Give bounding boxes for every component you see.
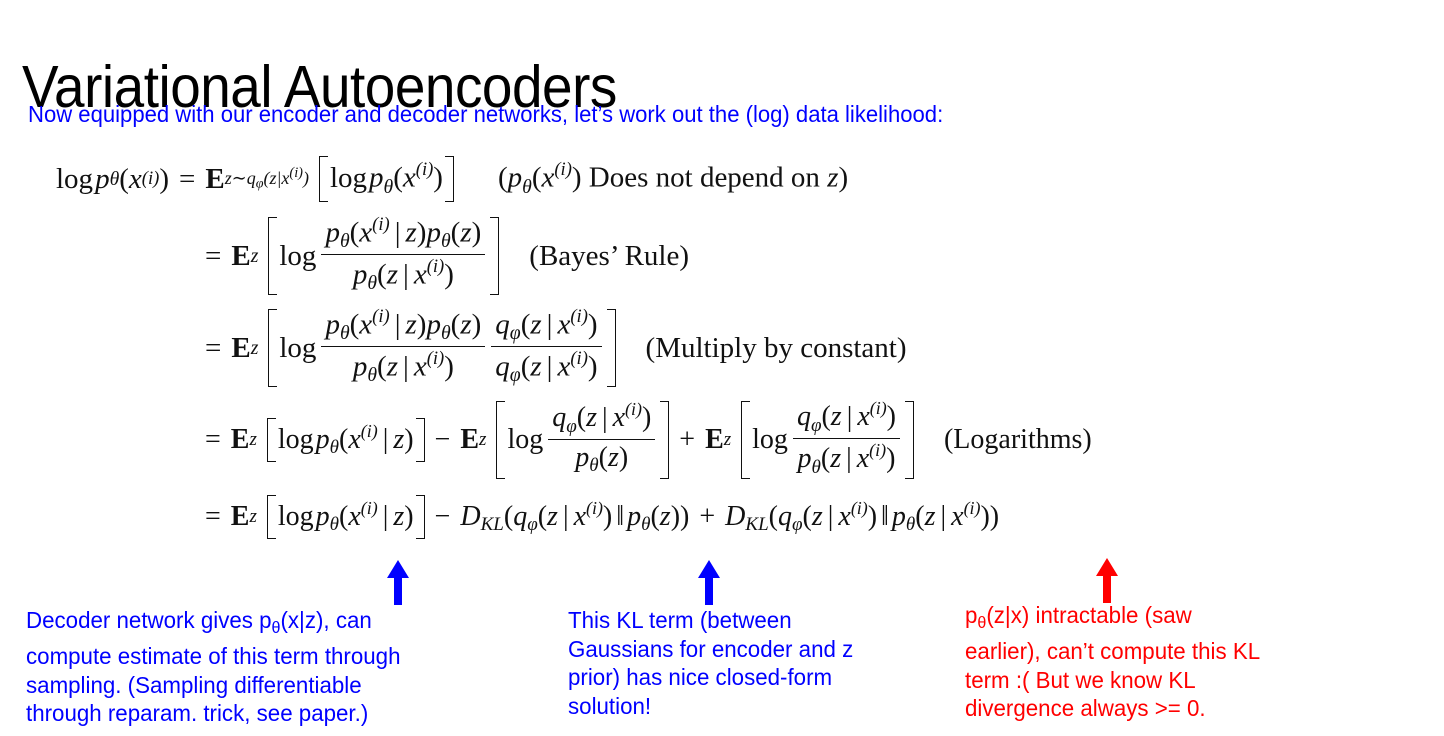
plus-l5: + — [699, 501, 715, 533]
arrow-kl-term — [695, 558, 723, 606]
note-decoder-line-1: Decoder network gives pθ(x|z), can — [26, 606, 550, 642]
equation-line-5: = Ez logpθ(x(i)|z) − DKL(qφ(z|x(i))‖pθ(z… — [205, 486, 1444, 548]
note-decoder-line-2: compute estimate of this term through — [26, 642, 550, 671]
note-decoder-line-3: sampling. (Sampling differentiable — [26, 671, 550, 700]
bracket-open-l5 — [267, 495, 276, 539]
fraction-kl-prior-l4: qφ(z|x(i)) pθ(z) — [548, 399, 655, 477]
note-kl-line-4: solution! — [568, 692, 937, 721]
bracket-body-l1: logpθ(x(i)) — [330, 159, 443, 198]
equals-l5: = — [205, 501, 221, 533]
bracket-close-l1 — [445, 156, 454, 202]
note-intractable-line1-suffix: (z|x) intractable (saw — [986, 602, 1191, 628]
fraction-numerator-l4-c: qφ(z|x(i)) — [793, 398, 900, 439]
expectation-symbol-l5: E — [231, 501, 250, 533]
x-symbol-l1: x — [129, 163, 142, 196]
equals-l3: = — [205, 332, 221, 365]
expectation-symbol-l4-b: E — [460, 424, 479, 456]
slide-subtitle: Now equipped with our encoder and decode… — [28, 101, 943, 128]
fraction2-denominator-l3: qφ(z|x(i)) — [491, 347, 601, 387]
recon-term-l5: logpθ(x(i)|z) — [278, 498, 414, 536]
fraction-bayes-l2: pθ(x(i)|z)pθ(z) pθ(z|x(i)) — [321, 214, 485, 295]
annotation-l3: (Multiply by constant) — [646, 332, 907, 365]
bracket-open-l4-a — [267, 418, 276, 462]
expectation-subscript-l3: z — [251, 337, 259, 360]
expectation-subscript-l1: z∼qφ(z|x(i)) — [225, 165, 309, 193]
fraction-numerator-l2: pθ(x(i)|z)pθ(z) — [321, 214, 485, 255]
log-operator-l2: log — [279, 240, 318, 273]
bracket-close-l2 — [490, 217, 499, 295]
equation-line-4: = Ez logpθ(x(i)|z) − Ez log qφ(z|x(i)) p… — [205, 394, 1444, 486]
note-intractable-line1-prefix: p — [965, 602, 977, 628]
plus-l4: + — [679, 424, 695, 456]
fraction1-numerator-l3: pθ(x(i)|z)pθ(z) — [321, 306, 485, 347]
expectation-symbol-l4-a: E — [231, 424, 250, 456]
theta-subscript-note-intractable: θ — [977, 609, 986, 638]
note-intractable-line-1: pθ(z|x) intractable (saw — [965, 601, 1382, 637]
fraction-denominator-l4-c: pθ(z|x(i)) — [794, 439, 900, 479]
paren-close-l1: ) — [159, 163, 169, 196]
log-operator-l3: log — [279, 332, 318, 365]
superscript-i-l1: (i) — [142, 168, 160, 190]
equation-line-1: logpθ(x(i)) = Ez∼qφ(z|x(i)) logpθ(x(i)) … — [56, 148, 1444, 210]
note-decoder-line-4: through reparam. trick, see paper.) — [26, 699, 550, 728]
bracket-close-l4-c — [905, 401, 914, 479]
log-operator-l4-b: log — [507, 424, 545, 456]
fraction1-denominator-l3: pθ(z|x(i)) — [349, 347, 458, 387]
note-intractable-line-3: term :( But we know KL — [965, 666, 1382, 695]
arrow-decoder-term — [384, 558, 412, 606]
note-decoder: Decoder network gives pθ(x|z), can compu… — [26, 606, 550, 728]
bracket-open-l1 — [319, 156, 328, 202]
note-intractable-line-2: earlier), can’t compute this KL — [965, 637, 1382, 666]
bracket-open-l2 — [268, 217, 277, 295]
note-decoder-line1-prefix: Decoder network gives p — [26, 607, 272, 633]
bracket-open-l4-c — [741, 401, 750, 479]
equation-line-3: = Ez log pθ(x(i)|z)pθ(z) pθ(z|x(i)) qφ(z… — [205, 302, 1444, 394]
theta-subscript-l1: θ — [110, 168, 120, 191]
kl-term-posterior-l5: DKL(qφ(z|x(i))‖pθ(z|x(i))) — [725, 498, 999, 536]
fraction-constant-l3: qφ(z|x(i)) qφ(z|x(i)) — [491, 306, 601, 387]
fraction-kl-posterior-l4: qφ(z|x(i)) pθ(z|x(i)) — [793, 398, 900, 478]
log-operator-l4-c: log — [752, 424, 790, 456]
minus-l5: − — [435, 501, 451, 533]
equals-l1: = — [179, 163, 195, 196]
note-kl-line-1: This KL term (between — [568, 606, 937, 635]
kl-term-prior-l5: DKL(qφ(z|x(i))‖pθ(z)) — [460, 498, 689, 536]
fraction-denominator-l4-b: pθ(z) — [571, 440, 632, 478]
paren-open-l1: ( — [119, 163, 129, 196]
note-kl-line-2: Gaussians for encoder and z — [568, 635, 937, 664]
expectation-subscript-l5: z — [249, 506, 256, 528]
theta-subscript-note-decoder: θ — [272, 614, 281, 643]
expectation-subscript-l2: z — [251, 245, 259, 268]
annotation-l1: (pθ(x(i)) Does not depend on z) — [498, 159, 848, 198]
bracket-close-l5 — [416, 495, 425, 539]
expectation-subscript-l4-b: z — [479, 429, 486, 451]
equals-l2: = — [205, 240, 221, 273]
note-intractable-line-4: divergence always >= 0. — [965, 694, 1382, 723]
arrow-intractable-kl-term — [1093, 556, 1121, 604]
annotation-l4: (Logarithms) — [944, 424, 1092, 456]
expectation-symbol-l4-c: E — [705, 424, 724, 456]
note-intractable: pθ(z|x) intractable (saw earlier), can’t… — [965, 601, 1382, 723]
bracket-close-l4-b — [660, 401, 669, 479]
p-symbol-l1: p — [95, 163, 110, 196]
bracket-open-l3 — [268, 309, 277, 387]
note-decoder-line1-suffix: (x|z), can — [280, 607, 371, 633]
expectation-symbol-l2: E — [231, 240, 250, 273]
expectation-symbol-l3: E — [231, 332, 250, 365]
bracket-open-l4-b — [496, 401, 505, 479]
equation-line-2: = Ez log pθ(x(i)|z)pθ(z) pθ(z|x(i)) (Bay… — [205, 210, 1444, 302]
minus-l4: − — [435, 424, 451, 456]
log-operator-l1: log — [56, 163, 95, 196]
equals-l4: = — [205, 424, 221, 456]
recon-term-l4: logpθ(x(i)|z) — [278, 421, 414, 459]
fraction-numerator-l4-b: qφ(z|x(i)) — [548, 399, 655, 440]
annotation-l2: (Bayes’ Rule) — [529, 240, 689, 273]
expectation-subscript-l4-a: z — [249, 429, 256, 451]
expectation-symbol-l1: E — [205, 163, 224, 196]
fraction2-numerator-l3: qφ(z|x(i)) — [491, 306, 601, 347]
note-kl-line-3: prior) has nice closed-form — [568, 663, 937, 692]
fraction-denominator-l2: pθ(z|x(i)) — [349, 255, 458, 295]
derivation-equation-block: logpθ(x(i)) = Ez∼qφ(z|x(i)) logpθ(x(i)) … — [0, 148, 1444, 548]
bracket-close-l4-a — [416, 418, 425, 462]
note-kl-closed-form: This KL term (between Gaussians for enco… — [568, 606, 937, 720]
bracket-close-l3 — [607, 309, 616, 387]
expectation-subscript-l4-c: z — [724, 429, 731, 451]
fraction-posterior-l3: pθ(x(i)|z)pθ(z) pθ(z|x(i)) — [321, 306, 485, 387]
